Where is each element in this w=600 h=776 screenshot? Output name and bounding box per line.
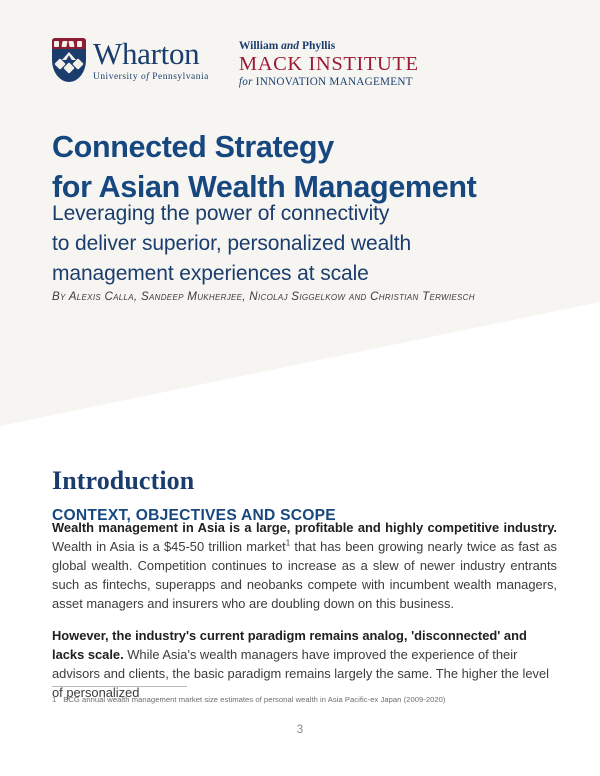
page-subtitle-line1: Leveraging the power of connectivity: [52, 199, 572, 229]
wharton-logo: Wharton University of Pennsylvania: [52, 38, 209, 82]
footnote-separator: [52, 686, 187, 687]
paragraph-2: However, the industry's current paradigm…: [52, 627, 557, 703]
author-byline: By Alexis Calla, Sandeep Mukherjee, Nico…: [52, 290, 592, 303]
page-subtitle-line2: to deliver superior, personalized wealth: [52, 229, 572, 259]
page-subtitle: Leveraging the power of connectivity to …: [52, 199, 572, 289]
introduction-heading: Introduction: [52, 466, 194, 496]
page-subtitle-line3: management experiences at scale: [52, 259, 572, 289]
penn-shield-icon: [52, 38, 86, 82]
wharton-subline: University of Pennsylvania: [93, 72, 209, 82]
document-page: Wharton University of Pennsylvania Willi…: [0, 0, 600, 776]
footnote-text: BCG annual wealth management market size…: [63, 695, 445, 704]
paragraph-1: Wealth management in Asia is a large, pr…: [52, 519, 557, 614]
mack-william: William: [239, 40, 281, 52]
mack-and: and: [281, 40, 299, 52]
paragraph-1-lead: Wealth management in Asia is a large, pr…: [52, 520, 557, 535]
mack-phyllis: Phyllis: [299, 40, 335, 52]
mack-for: for: [239, 76, 253, 88]
wharton-subline-of: of: [141, 72, 152, 82]
mack-logo-line3: for INNOVATION MANAGEMENT: [239, 76, 419, 89]
page-number: 3: [0, 724, 600, 736]
mack-institute-logo: William and Phyllis MACK INSTITUTE for I…: [239, 38, 419, 88]
wharton-subline-pennsylvania: Pennsylvania: [152, 72, 209, 82]
wharton-subline-university: University: [93, 72, 141, 82]
mack-logo-line1: William and Phyllis: [239, 40, 419, 53]
header-logos: Wharton University of Pennsylvania Willi…: [52, 38, 419, 88]
footnote: 1BCG annual wealth management market siz…: [52, 695, 552, 704]
footnote-number: 1: [52, 695, 56, 704]
mack-innovation-management: INNOVATION MANAGEMENT: [253, 76, 413, 88]
mack-logo-line2: MACK INSTITUTE: [239, 53, 419, 76]
page-title: Connected Strategy for Asian Wealth Mana…: [52, 128, 572, 207]
paragraph-1-body-pre: Wealth in Asia is a $45-50 trillion mark…: [52, 539, 286, 554]
page-title-line1: Connected Strategy: [52, 128, 572, 167]
paragraph-2-body: While Asia's wealth managers have improv…: [52, 647, 549, 700]
wharton-wordmark: Wharton: [93, 39, 209, 69]
